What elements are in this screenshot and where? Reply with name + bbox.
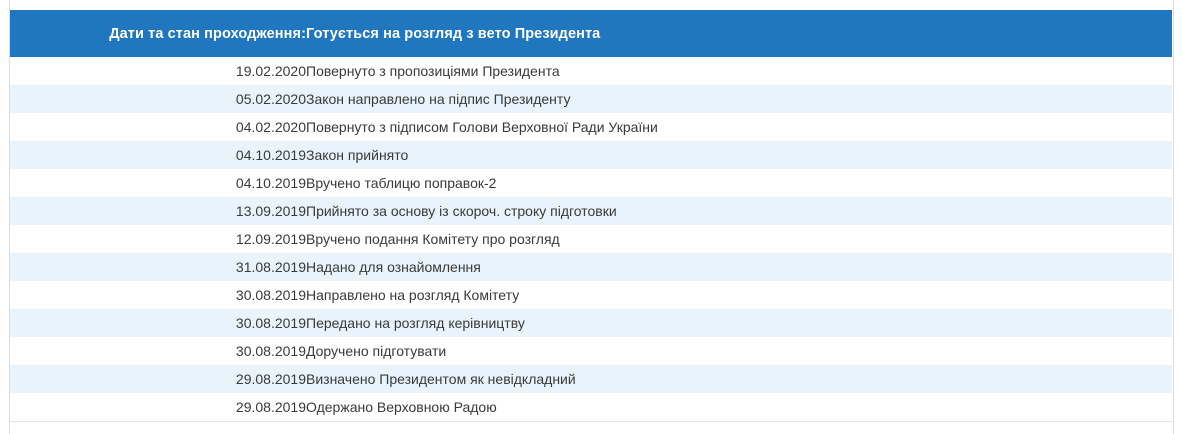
page-root: Дати та стан проходження: Готується на р… bbox=[0, 0, 1182, 434]
row-status: Направлено на розгляд Комітету bbox=[306, 281, 1172, 309]
table-row: 30.08.2019Доручено підготувати bbox=[10, 337, 1172, 365]
column-header-status: Готується на розгляд з вето Президента bbox=[306, 10, 1172, 57]
row-status: Прийнято за основу із скороч. строку під… bbox=[306, 197, 1172, 225]
table-row: 13.09.2019Прийнято за основу із скороч. … bbox=[10, 197, 1172, 225]
row-date: 05.02.2020 bbox=[10, 85, 306, 113]
row-date: 30.08.2019 bbox=[10, 309, 306, 337]
row-date: 31.08.2019 bbox=[10, 253, 306, 281]
row-status: Повернуто з пропозиціями Президента bbox=[306, 57, 1172, 85]
table-row: 30.08.2019Передано на розгляд керівництв… bbox=[10, 309, 1172, 337]
row-date: 19.02.2020 bbox=[10, 57, 306, 85]
row-status: Надано для ознайомлення bbox=[306, 253, 1172, 281]
bill-passage-table-container: Дати та стан проходження: Готується на р… bbox=[10, 10, 1173, 422]
row-status: Передано на розгляд керівництву bbox=[306, 309, 1172, 337]
row-date: 04.10.2019 bbox=[10, 169, 306, 197]
table-row: 30.08.2019Направлено на розгляд Комітету bbox=[10, 281, 1172, 309]
row-status: Вручено таблицю поправок-2 bbox=[306, 169, 1172, 197]
table-row: 04.10.2019Закон прийнято bbox=[10, 141, 1172, 169]
table-row: 29.08.2019Визначено Президентом як невід… bbox=[10, 365, 1172, 393]
column-header-dates: Дати та стан проходження: bbox=[10, 10, 306, 57]
table-row: 04.10.2019Вручено таблицю поправок-2 bbox=[10, 169, 1172, 197]
frame-right-rule bbox=[1173, 0, 1174, 434]
table-row: 05.02.2020Закон направлено на підпис Пре… bbox=[10, 85, 1172, 113]
row-status: Вручено подання Комітету про розгляд bbox=[306, 225, 1172, 253]
table-header: Дати та стан проходження: Готується на р… bbox=[10, 10, 1172, 57]
row-status: Закон прийнято bbox=[306, 141, 1172, 169]
row-date: 04.02.2020 bbox=[10, 113, 306, 141]
table-row: 04.02.2020Повернуто з підписом Голови Ве… bbox=[10, 113, 1172, 141]
bill-passage-table: Дати та стан проходження: Готується на р… bbox=[10, 10, 1172, 422]
table-row: 12.09.2019Вручено подання Комітету про р… bbox=[10, 225, 1172, 253]
table-bottom-rule bbox=[10, 421, 1173, 422]
row-status: Визначено Президентом як невідкладний bbox=[306, 365, 1172, 393]
row-date: 30.08.2019 bbox=[10, 281, 306, 309]
row-status: Доручено підготувати bbox=[306, 337, 1172, 365]
row-date: 12.09.2019 bbox=[10, 225, 306, 253]
table-header-row: Дати та стан проходження: Готується на р… bbox=[10, 10, 1172, 57]
row-date: 30.08.2019 bbox=[10, 337, 306, 365]
row-status: Закон направлено на підпис Президенту bbox=[306, 85, 1172, 113]
row-date: 13.09.2019 bbox=[10, 197, 306, 225]
table-row: 29.08.2019Одержано Верховною Радою bbox=[10, 393, 1172, 421]
table-row: 19.02.2020Повернуто з пропозиціями Прези… bbox=[10, 57, 1172, 85]
table-body: 19.02.2020Повернуто з пропозиціями Прези… bbox=[10, 57, 1172, 421]
row-date: 29.08.2019 bbox=[10, 365, 306, 393]
table-row: 31.08.2019Надано для ознайомлення bbox=[10, 253, 1172, 281]
row-status: Одержано Верховною Радою bbox=[306, 393, 1172, 421]
row-status: Повернуто з підписом Голови Верховної Ра… bbox=[306, 113, 1172, 141]
row-date: 04.10.2019 bbox=[10, 141, 306, 169]
row-date: 29.08.2019 bbox=[10, 393, 306, 421]
